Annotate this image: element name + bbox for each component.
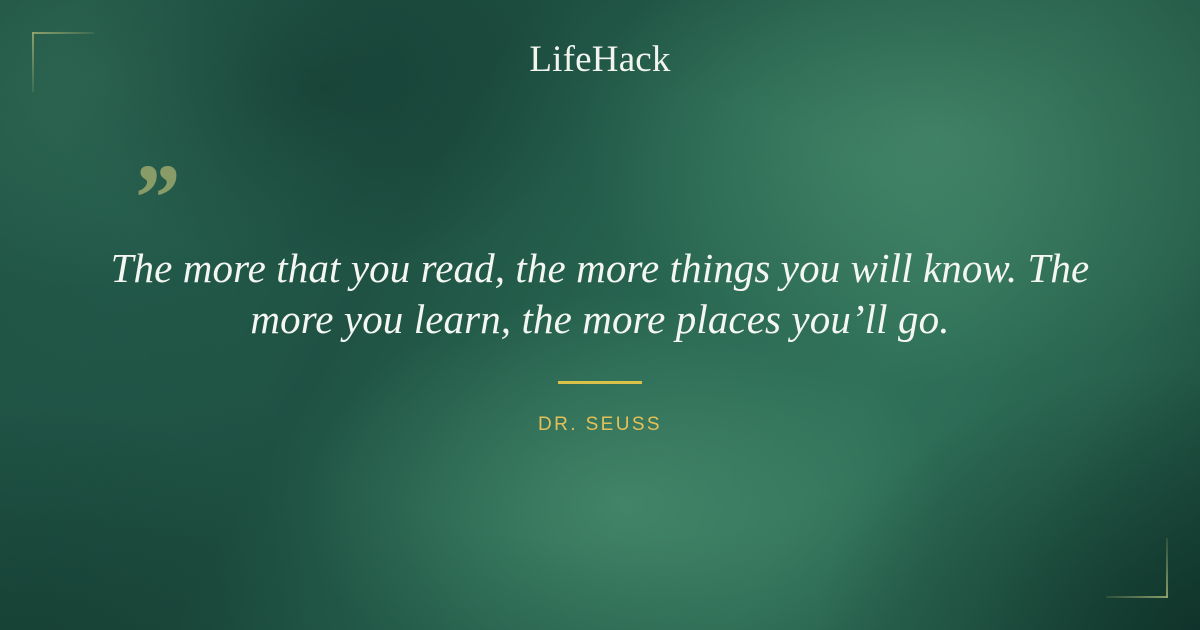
corner-bracket-vertical-line	[1166, 538, 1168, 598]
quote-card: LifeHack ” The more that you read, the m…	[0, 0, 1200, 630]
corner-bracket-horizontal-line	[32, 32, 94, 34]
quote-text: The more that you read, the more things …	[96, 243, 1104, 345]
attribution-divider	[558, 381, 642, 384]
attribution-author: DR. SEUSS	[0, 414, 1200, 436]
brand-logo: LifeHack	[0, 41, 1200, 78]
quotation-mark-icon: ”	[130, 150, 178, 246]
corner-bracket-bottom-right-icon	[1106, 538, 1168, 598]
corner-bracket-horizontal-line	[1106, 596, 1168, 598]
